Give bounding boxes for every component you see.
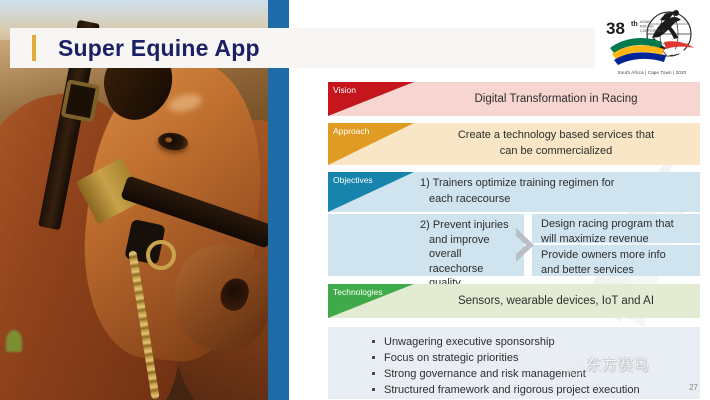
success-factors-list: Unwagering executive sponsorship Focus o… — [372, 334, 690, 399]
logo-caption: South Africa | Cape Town | 2020 — [602, 70, 702, 75]
logo-conference-line1: ASIAN — [640, 20, 651, 24]
objective-outcome-1-line1: Design racing program that — [541, 217, 695, 232]
logo-conference-line2: RACING — [640, 25, 654, 29]
objective-outcome-2: Provide owners more info and better serv… — [532, 245, 700, 276]
list-item: Focus on strategic priorities — [372, 350, 690, 366]
content-panel: Vision Digital Transformation in Racing … — [328, 82, 700, 382]
list-item: Unwagering executive sponsorship — [372, 334, 690, 350]
vision-label: Vision — [333, 85, 356, 95]
objective-1-line1: 1) Trainers optimize training regimen fo… — [420, 176, 694, 192]
objective-outcome-2-line2: and better services — [541, 263, 695, 278]
grass-tuft — [6, 330, 22, 352]
conference-logo-icon: 38 th ASIAN RACING CONFERENCE — [602, 4, 702, 76]
technologies-label-wedge: Technologies — [328, 284, 414, 318]
vision-label-wedge: Vision — [328, 82, 414, 116]
objective-2-line2: and improve — [420, 233, 518, 248]
logo-conference-line3: CONFERENCE — [640, 29, 666, 33]
approach-band: Approach Create a technology based servi… — [328, 123, 700, 165]
objective-outcome-1: Design racing program that will maximize… — [532, 214, 700, 243]
page-number: 27 — [689, 383, 698, 392]
logo-edition-suffix: th — [631, 21, 638, 28]
objectives-detail-row: 2) Prevent injuries and improve overall … — [328, 214, 700, 276]
objective-2-line3: overall racechorse — [420, 247, 518, 276]
objective-2: 2) Prevent injuries and improve overall … — [328, 214, 524, 276]
technologies-band: Technologies Sensors, wearable devices, … — [328, 284, 700, 318]
logo-edition-number: 38 — [606, 19, 625, 38]
approach-label-wedge: Approach — [328, 123, 414, 165]
halter-ring — [146, 240, 176, 270]
success-factors-box: Unwagering executive sponsorship Focus o… — [328, 327, 700, 399]
objective-2-line1: 2) Prevent injuries — [420, 218, 518, 233]
conference-logo: 38 th ASIAN RACING CONFERENCE South Afri… — [602, 4, 702, 76]
objectives-band: Objectives 1) Trainers optimize training… — [328, 172, 700, 212]
slide-title-band: Super Equine App — [10, 28, 595, 68]
title-accent-bar — [32, 35, 36, 61]
technologies-label: Technologies — [333, 287, 383, 297]
objective-1-line2: each racecourse — [420, 192, 694, 208]
approach-label: Approach — [333, 126, 369, 136]
chevron-right-icon — [514, 228, 536, 262]
objective-outcome-2-line1: Provide owners more info — [541, 248, 695, 263]
vision-band: Vision Digital Transformation in Racing — [328, 82, 700, 116]
list-item: Strong governance and risk management — [372, 366, 690, 382]
list-item: Structured framework and rigorous projec… — [372, 382, 690, 398]
approach-text-line2: can be commercialized — [418, 144, 694, 160]
objectives-label-wedge: Objectives — [328, 172, 414, 212]
objectives-label: Objectives — [333, 175, 373, 185]
approach-text-line1: Create a technology based services that — [418, 128, 694, 144]
slide-canvas: Super Equine App 38 th ASIAN — [0, 0, 710, 400]
page-title: Super Equine App — [58, 35, 260, 62]
